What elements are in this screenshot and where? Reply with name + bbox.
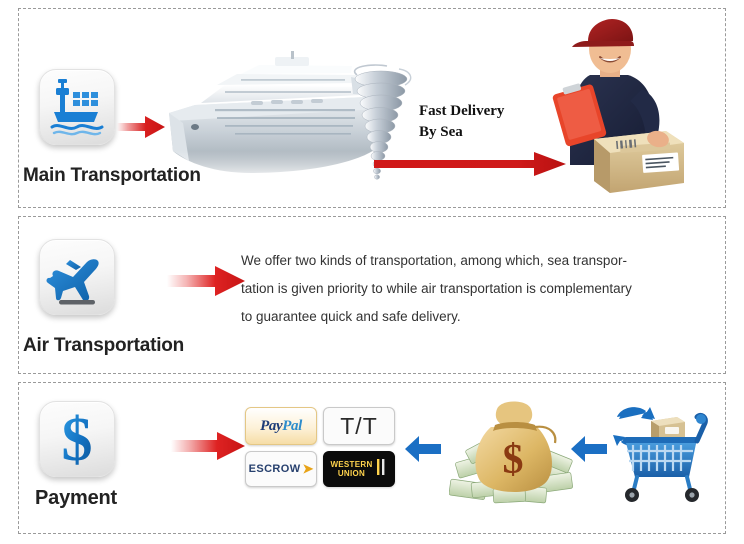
payment-label: Payment [35, 487, 117, 510]
description-line-1: We offer two kinds of transportation, am… [241, 247, 721, 275]
paypal-logo[interactable]: PayPal [245, 407, 317, 445]
panel-main-transportation: Fast Delivery By Sea [18, 8, 726, 208]
description-line-2: tation is given priority to while air tr… [241, 275, 721, 303]
wu-label-line1: WESTERN [330, 460, 372, 469]
fast-delivery-line-2: By Sea [419, 122, 504, 143]
paypal-logo-text: PayPal [260, 418, 302, 435]
escrow-label: ESCROW [249, 463, 301, 475]
red-arrow-right-icon [171, 431, 245, 461]
cargo-ship-icon [40, 70, 114, 144]
paypal-label-part1: Pay [260, 418, 282, 434]
red-long-arrow-right-icon [374, 151, 566, 177]
blue-arrow-left-icon [405, 435, 441, 463]
red-arrow-right-icon [117, 115, 165, 139]
fast-delivery-headline: Fast Delivery By Sea [419, 101, 504, 143]
description-line-3: to guarantee quick and safe delivery. [241, 303, 721, 331]
fast-delivery-line-1: Fast Delivery [419, 101, 504, 122]
delivery-man-with-parcel-photo [550, 15, 690, 197]
tt-logo[interactable]: T/T [323, 407, 395, 445]
blue-arrow-left-icon [571, 435, 607, 463]
western-union-bars-icon [376, 458, 388, 481]
dollar-sign-icon-tile[interactable]: $ [39, 401, 115, 477]
shopping-cart-with-box-graphic [605, 397, 713, 503]
red-arrow-right-icon [167, 265, 245, 297]
transportation-description: We offer two kinds of transportation, am… [241, 247, 721, 331]
airplane-icon-tile[interactable] [39, 239, 115, 315]
svg-text:$: $ [62, 406, 93, 474]
western-union-logo-text: WESTERN UNION [330, 460, 372, 478]
air-transportation-label: Air Transportation [23, 335, 184, 357]
escrow-arrow-icon: ➤ [303, 461, 314, 477]
main-transportation-label: Main Transportation [23, 165, 201, 187]
cargo-ship-icon-tile[interactable] [39, 69, 115, 145]
escrow-logo[interactable]: ESCROW➤ [245, 451, 317, 487]
panel-payment: $ Payment PayPal T/T ES [18, 382, 726, 534]
tt-label: T/T [340, 413, 378, 440]
dollar-sign-icon: $ [40, 402, 114, 476]
money-bag-with-cash-graphic: $ [449, 391, 581, 509]
airplane-icon [40, 240, 114, 314]
western-union-logo[interactable]: WESTERN UNION [323, 451, 395, 487]
svg-text:$: $ [503, 437, 524, 483]
paypal-label-part2: Pal [282, 418, 302, 434]
panel-air-transportation: Air Transportation We offer two kinds of… [18, 216, 726, 374]
wu-label-line2: UNION [338, 469, 365, 478]
shipping-payment-infographic: Fast Delivery By Sea [0, 0, 744, 544]
